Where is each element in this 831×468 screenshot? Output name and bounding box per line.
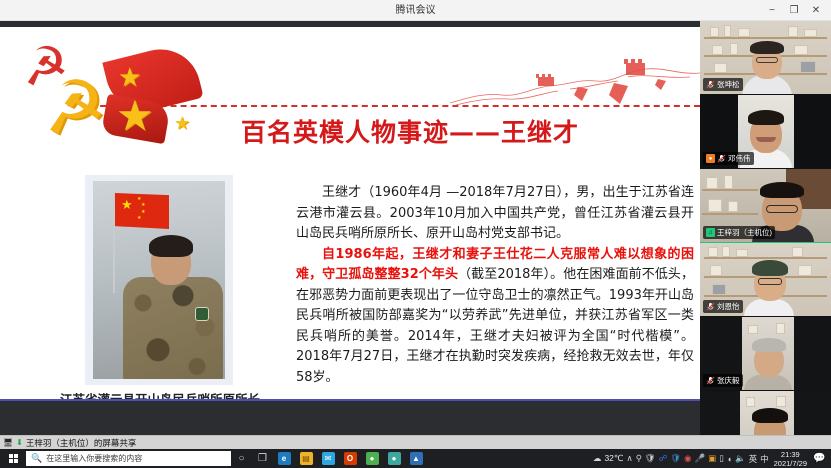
shared-screen-region: ☭ ☭ ★ ★ ★ xyxy=(0,21,700,435)
wechat-icon: ● xyxy=(366,452,379,465)
taskbar-app-mail[interactable]: ✉ xyxy=(317,449,339,468)
participant-tile[interactable]: ♫ 王梓羽（主机位) xyxy=(700,169,831,243)
notification-center-icon[interactable]: 💬 xyxy=(812,449,827,468)
start-button[interactable] xyxy=(0,449,26,468)
flag-pole xyxy=(113,193,115,293)
great-wall-svg xyxy=(450,53,700,113)
taskbar-app-file-explorer[interactable]: ▤ xyxy=(295,449,317,468)
antivirus-icon[interactable]: ◉ xyxy=(684,453,691,464)
portrait-figure xyxy=(121,233,225,379)
presentation-slide: ☭ ☭ ★ ★ ★ xyxy=(0,27,700,401)
shield-icon[interactable]: 🛡 xyxy=(645,453,656,464)
participant-name: 张庆毅 xyxy=(717,375,740,386)
taskbar-app-edge[interactable]: e xyxy=(273,449,295,468)
mic-muted-icon xyxy=(717,154,726,163)
hero-photo-frame: ★ ★ ★ ★ ★ xyxy=(85,175,233,385)
wifi-icon[interactable]: ◖ xyxy=(727,454,732,464)
participant-video-strip: 张坤松 ● 邓伟伟 xyxy=(700,21,831,435)
mic-muted-icon xyxy=(706,376,715,385)
microphone-icon[interactable]: 🎤 xyxy=(695,453,706,464)
participant-tile[interactable]: ● 邓伟伟 正在讲话: 王梓羽（主机位... ↩ xyxy=(700,95,831,169)
office-icon: O xyxy=(344,452,357,465)
screen-capture-icon[interactable]: ▣ xyxy=(708,453,716,464)
flag-small-star-2: ★ xyxy=(141,203,145,208)
ime-language-indicator[interactable]: 英 xyxy=(749,453,758,465)
volume-icon[interactable]: 🔈 xyxy=(735,453,746,464)
slide-body-text: 王继才（1960年4月 —2018年7月27日），男，出生于江苏省连云港市灌云县… xyxy=(296,183,694,388)
hammer-sickle-icon: ☭ xyxy=(38,68,110,146)
participant-tile[interactable]: 张坤松 xyxy=(700,21,831,95)
clock-date: 2021/7/29 xyxy=(774,459,807,468)
participant-tile[interactable]: 张庆毅 xyxy=(700,317,831,391)
flag-small-star-3: ★ xyxy=(141,210,145,215)
shoulder-patch-icon xyxy=(195,307,209,321)
windows-taskbar: 🔍 在这里输入你要搜索的内容 ○ ❐ e ▤ ✉ O ● ● ▲ ☁ 32℃ ∧ xyxy=(0,449,831,468)
participant-nameplate: ♫ 王梓羽（主机位) xyxy=(703,226,775,239)
taskbar-clock[interactable]: 21:39 2021/7/29 xyxy=(772,450,809,468)
party-emblem-graphic: ☭ ☭ ★ ★ ★ xyxy=(8,37,173,162)
meeting-area: ☭ ☭ ★ ★ ★ xyxy=(0,21,831,435)
maximize-button[interactable]: ❐ xyxy=(783,0,805,21)
weather-cloud-icon[interactable]: ☁ xyxy=(593,453,602,464)
weather-temperature[interactable]: 32℃ xyxy=(604,453,623,464)
body-paragraph-2: 自1986年起，王继才和妻子王仕花二人克服常人难以想象的困难，守卫孤岛整整32个… xyxy=(296,245,694,389)
flag-small-star-4: ★ xyxy=(137,216,141,221)
battery-icon[interactable]: ▯ xyxy=(719,453,724,464)
tencent-meeting-window: 腾讯会议 − ❐ ✕ ☭ ☭ ★ ★ ★ xyxy=(0,0,831,468)
taskbar-app-maps[interactable]: ▲ xyxy=(405,449,427,468)
file-explorer-icon: ▤ xyxy=(300,452,313,465)
edge-icon: e xyxy=(278,452,291,465)
windows-logo-icon xyxy=(9,454,18,463)
mic-muted-icon xyxy=(706,80,715,89)
mail-icon: ✉ xyxy=(322,452,335,465)
taskbar-app-office[interactable]: O xyxy=(339,449,361,468)
gold-star-icon-1: ★ xyxy=(118,65,141,91)
clock-time: 21:39 xyxy=(774,450,807,459)
photo-caption: 江苏省灌云县开山岛民兵哨所原所长 xyxy=(0,389,320,401)
participant-nameplate: 张庆毅 xyxy=(703,374,743,387)
portrait-hair xyxy=(149,235,193,257)
participant-name: 张坤松 xyxy=(717,79,740,90)
mic-muted-icon xyxy=(706,302,715,311)
participant-tile[interactable]: 刘恩怡 xyxy=(700,243,831,317)
taskbar-app-browser[interactable]: ● xyxy=(383,449,405,468)
great-wall-graphic xyxy=(450,53,700,113)
mic-active-icon: ♫ xyxy=(706,228,715,237)
ime-mode-indicator[interactable]: 中 xyxy=(760,453,769,465)
task-view-icon[interactable]: ❐ xyxy=(252,449,273,468)
cortana-icon[interactable]: ○ xyxy=(231,449,252,468)
window-titlebar: 腾讯会议 − ❐ ✕ xyxy=(0,0,831,21)
camouflage-uniform xyxy=(123,277,223,379)
participant-name: 王梓羽（主机位) xyxy=(717,227,772,238)
monitor-icon: 🖥 xyxy=(3,438,13,447)
security-center-icon[interactable]: 🛡 xyxy=(670,453,681,464)
window-title: 腾讯会议 xyxy=(0,0,831,21)
bluetooth-icon[interactable]: ☍ xyxy=(659,453,668,464)
participant-name: 刘恩怡 xyxy=(717,301,740,312)
close-button[interactable]: ✕ xyxy=(805,0,827,21)
system-tray: ☁ 32℃ ∧ ⚲ 🛡 ☍ 🛡 ◉ 🎤 ▣ ▯ ◖ 🔈 英 中 21:39 20… xyxy=(593,449,831,468)
network-icon[interactable]: ⚲ xyxy=(636,453,642,464)
screen-share-status-bar: 🖥 ⬇ 王梓羽（主机位）的屏幕共享 xyxy=(0,435,831,449)
participant-nameplate: 张坤松 xyxy=(703,78,743,91)
search-placeholder: 在这里输入你要搜索的内容 xyxy=(46,453,142,464)
search-icon: 🔍 xyxy=(31,453,42,464)
taskbar-search-input[interactable]: 🔍 在这里输入你要搜索的内容 xyxy=(26,451,231,466)
maps-icon: ▲ xyxy=(410,452,423,465)
body-paragraph-1: 王继才（1960年4月 —2018年7月27日），男，出生于江苏省连云港市灌云县… xyxy=(296,183,694,245)
participant-name: 邓伟伟 xyxy=(728,153,751,164)
browser-icon: ● xyxy=(388,452,401,465)
hero-photo: ★ ★ ★ ★ ★ xyxy=(93,181,225,379)
download-arrow-icon: ⬇ xyxy=(16,438,23,447)
minimize-button[interactable]: − xyxy=(761,0,783,21)
taskbar-app-wechat[interactable]: ● xyxy=(361,449,383,468)
participant-nameplate: 刘恩怡 xyxy=(703,300,743,313)
screen-share-label: 王梓羽（主机位）的屏幕共享 xyxy=(26,437,137,449)
participant-nameplate: ● 邓伟伟 xyxy=(703,152,754,165)
tray-expand-chevron-icon[interactable]: ∧ xyxy=(626,453,632,464)
slide-title: 百名英模人物事迹——王继才 xyxy=(180,113,640,149)
body-paragraph-2-rest: （截至2018年）。他在困难面前不低头，在邪恶势力面前更表现出了一位守岛卫士的凛… xyxy=(296,267,694,385)
flag-big-star: ★ xyxy=(121,199,133,212)
host-badge-icon: ● xyxy=(706,154,715,163)
gold-star-icon-2: ★ xyxy=(116,95,154,137)
window-controls: − ❐ ✕ xyxy=(761,0,827,21)
